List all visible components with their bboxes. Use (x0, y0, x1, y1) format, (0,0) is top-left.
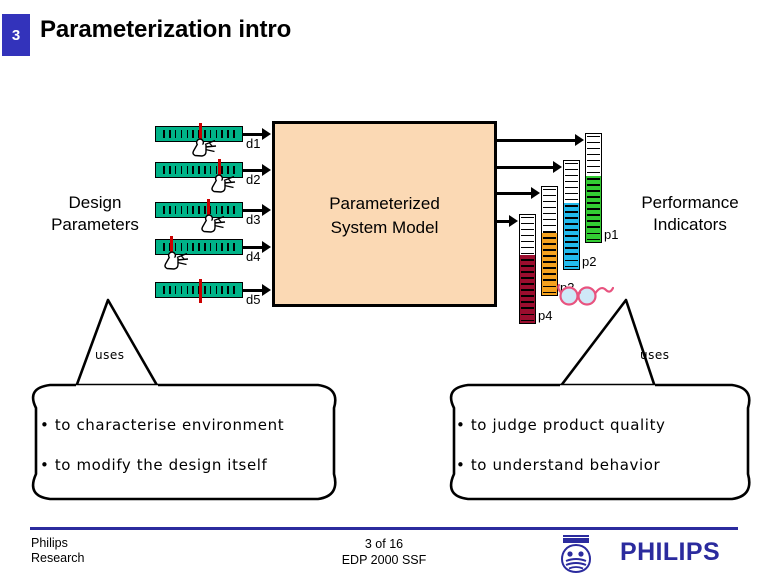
design-parameter-label-d3: d3 (246, 212, 260, 227)
callout-right-shape (440, 296, 760, 508)
philips-wordmark: PHILIPS (620, 538, 720, 567)
slider-marker-d3[interactable] (207, 199, 210, 223)
slider-ticks (156, 240, 242, 254)
performance-indicator-label-p1: p1 (604, 227, 618, 242)
parameterized-system-model-box: Parameterized System Model (272, 121, 497, 307)
gauge-p3 (541, 186, 558, 296)
input-arrow-d3 (262, 204, 271, 216)
footer-affiliation: Philips Research (31, 536, 85, 566)
slider-ticks (156, 203, 242, 217)
slider-d3[interactable] (155, 202, 243, 218)
slide-canvas: 3 Parameterization intro Design Paramete… (0, 0, 768, 576)
design-parameters-caption-line2: Parameters (22, 214, 168, 236)
output-arrow-p3 (531, 187, 540, 199)
slider-marker-d1[interactable] (199, 123, 202, 147)
gauge-ticks (587, 136, 600, 240)
footer-divider (30, 527, 738, 530)
callout-left-bullet-2: • to modify the design itself (40, 456, 267, 474)
title-bar: 3 Parameterization intro (0, 14, 768, 56)
input-arrow-d5 (262, 284, 271, 296)
callout-right-bullet-2: • to understand behavior (456, 456, 660, 474)
footer-affiliation-line1: Philips (31, 536, 85, 551)
slider-marker-d2[interactable] (218, 159, 221, 183)
design-parameter-label-d4: d4 (246, 249, 260, 264)
system-model-label-line2: System Model (275, 216, 494, 240)
footer-affiliation-line2: Research (31, 551, 85, 566)
design-parameters-caption: Design Parameters (22, 192, 168, 236)
callout-right-bullet-1: • to judge product quality (456, 416, 666, 434)
performance-indicators-caption-line1: Performance (612, 192, 768, 214)
footer-page-count: 3 of 16 (284, 536, 484, 552)
output-arrow-p2 (553, 161, 562, 173)
output-arrow-p4 (509, 215, 518, 227)
performance-indicators-caption: Performance Indicators (612, 192, 768, 236)
slider-d2[interactable] (155, 162, 243, 178)
output-wire-p3 (497, 192, 532, 195)
output-arrow-p1 (575, 134, 584, 146)
design-parameter-label-d2: d2 (246, 172, 260, 187)
output-wire-p1 (497, 139, 576, 142)
footer-slide-info: 3 of 16 EDP 2000 SSF (284, 536, 484, 568)
system-model-label-line1: Parameterized (275, 192, 494, 216)
input-arrow-d1 (262, 128, 271, 140)
design-parameters-caption-line1: Design (22, 192, 168, 214)
system-model-label: Parameterized System Model (275, 192, 494, 240)
footer-event-name: EDP 2000 SSF (284, 552, 484, 568)
callout-left-uses-label: uses (95, 348, 125, 362)
page-title: Parameterization intro (40, 16, 291, 44)
slider-d4[interactable] (155, 239, 243, 255)
gauge-ticks (565, 163, 578, 267)
design-parameter-label-d1: d1 (246, 136, 260, 151)
callout-left-shape (18, 296, 348, 508)
performance-indicators-caption-line2: Indicators (612, 214, 768, 236)
gauge-p1 (585, 133, 602, 243)
slider-ticks (156, 163, 242, 177)
callout-left-bullet-1: • to characterise environment (40, 416, 284, 434)
gauge-ticks (543, 189, 556, 293)
callout-right-uses-label: uses (640, 348, 670, 362)
slider-d1[interactable] (155, 126, 243, 142)
philips-shield-logo (558, 533, 594, 573)
gauge-p2 (563, 160, 580, 270)
output-wire-p2 (497, 166, 554, 169)
input-arrow-d4 (262, 241, 271, 253)
slider-marker-d4[interactable] (170, 236, 173, 260)
input-arrow-d2 (262, 164, 271, 176)
performance-indicator-label-p2: p2 (582, 254, 596, 269)
slide-number-badge: 3 (2, 14, 30, 56)
